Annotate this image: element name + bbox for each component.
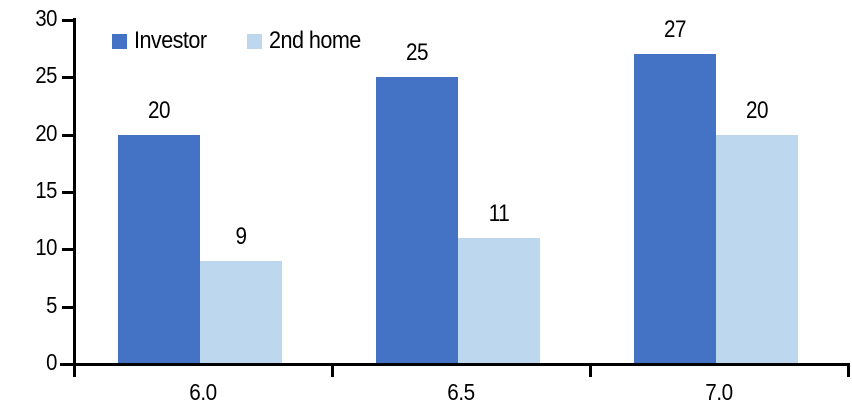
legend-label: Investor bbox=[134, 29, 207, 53]
bar-investor-6.0 bbox=[118, 135, 200, 364]
bar-2nd-home-6.0 bbox=[200, 261, 282, 364]
bar-chart: 051015202530 20925112720 6.06.57.0 Inves… bbox=[0, 0, 852, 410]
x-axis-tick-label: 7.0 bbox=[665, 380, 773, 405]
x-axis-tick bbox=[331, 366, 334, 377]
legend-label: 2nd home bbox=[269, 29, 361, 53]
x-axis-line bbox=[60, 363, 850, 366]
bar-value-label: 20 bbox=[120, 99, 197, 123]
bar-value-label: 20 bbox=[718, 99, 795, 123]
bar-value-label: 27 bbox=[636, 18, 713, 42]
bar-value-label: 11 bbox=[460, 202, 537, 226]
bar-investor-7.0 bbox=[634, 54, 716, 364]
chart-legend: Investor2nd home bbox=[112, 29, 371, 53]
legend-item-investor[interactable]: Investor bbox=[112, 29, 215, 53]
bar-2nd-home-6.5 bbox=[458, 238, 540, 364]
bar-2nd-home-7.0 bbox=[716, 135, 798, 364]
x-axis-tick-label: 6.5 bbox=[407, 380, 515, 405]
legend-swatch-icon bbox=[247, 34, 262, 49]
bar-value-label: 25 bbox=[378, 41, 455, 65]
bars-layer: 20925112720 bbox=[0, 0, 852, 410]
x-axis-tick-label: 6.0 bbox=[149, 380, 257, 405]
x-axis-tick bbox=[73, 366, 76, 377]
legend-swatch-icon bbox=[112, 34, 127, 49]
x-axis-tick bbox=[589, 366, 592, 377]
bar-investor-6.5 bbox=[376, 77, 458, 364]
x-axis-tick bbox=[847, 366, 850, 377]
legend-item-2nd-home[interactable]: 2nd home bbox=[247, 29, 371, 53]
bar-value-label: 9 bbox=[202, 225, 279, 249]
